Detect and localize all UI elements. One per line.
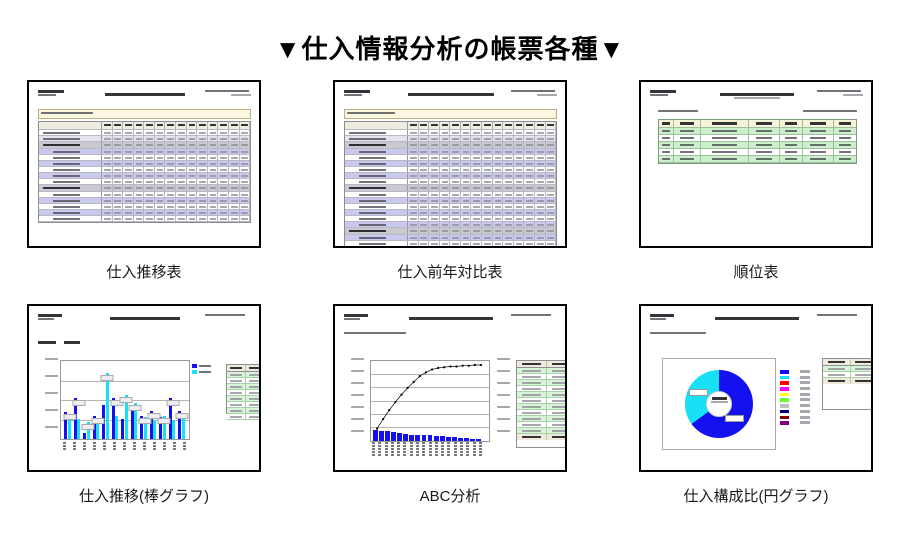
table-cell-value bbox=[208, 130, 219, 135]
table-cell-value bbox=[408, 198, 419, 203]
table-cell-value bbox=[535, 210, 546, 215]
legend-swatch bbox=[780, 410, 789, 414]
x-axis-tick-label bbox=[173, 442, 177, 451]
table-cell-value bbox=[155, 192, 166, 197]
table-cell-value bbox=[113, 192, 124, 197]
table-cell-value bbox=[535, 122, 546, 129]
table-cell-value bbox=[165, 198, 176, 203]
table-cell-label bbox=[345, 122, 408, 129]
table-cell-value bbox=[102, 161, 113, 166]
table-cell-value bbox=[450, 198, 461, 203]
abc-chart-y-axis-left bbox=[344, 358, 364, 442]
table-cell-value bbox=[123, 155, 134, 160]
report-page bbox=[340, 310, 561, 467]
table-cell-value bbox=[482, 185, 493, 191]
x-axis-tick-label bbox=[429, 442, 434, 457]
table-cell-value bbox=[113, 210, 124, 215]
table-cell-value bbox=[144, 216, 155, 221]
bar bbox=[182, 417, 185, 439]
table-cell-value bbox=[123, 161, 134, 166]
table-cell-value bbox=[419, 155, 430, 160]
x-axis-tick-label bbox=[403, 442, 408, 457]
table-cell-value bbox=[493, 161, 504, 166]
x-axis-tick-label bbox=[435, 442, 440, 457]
table-cell-value bbox=[187, 130, 198, 135]
table-cell bbox=[246, 378, 261, 383]
table-cell-label bbox=[345, 173, 408, 178]
table-cell-label bbox=[345, 155, 408, 160]
table-cell-value bbox=[493, 228, 504, 234]
table-cell-value bbox=[535, 198, 546, 203]
table-cell-value bbox=[440, 142, 451, 148]
table-cell-value bbox=[450, 122, 461, 129]
table-cell-value bbox=[546, 241, 557, 246]
table-cell-value bbox=[218, 192, 229, 197]
report-header-left bbox=[38, 314, 72, 322]
report-header-right bbox=[817, 314, 863, 318]
table-cell bbox=[749, 142, 780, 148]
table-cell-value bbox=[176, 204, 187, 209]
table-cell-value bbox=[102, 122, 113, 129]
table-cell-value bbox=[546, 210, 557, 215]
table-cell bbox=[749, 128, 780, 134]
table-cell bbox=[659, 142, 674, 148]
x-axis-tick-label bbox=[454, 442, 459, 457]
table-cell-value bbox=[155, 142, 166, 148]
table-cell bbox=[227, 408, 246, 413]
bar-group bbox=[102, 361, 110, 439]
table-cell-value bbox=[113, 198, 124, 203]
table-cell bbox=[547, 434, 567, 440]
table-cell-value bbox=[429, 130, 440, 135]
report-subheader bbox=[650, 332, 863, 339]
table-cell-value bbox=[197, 198, 208, 203]
table-cell-value bbox=[408, 142, 419, 148]
thumbnail-abc-analysis[interactable] bbox=[333, 304, 567, 472]
table-column-header bbox=[659, 120, 674, 127]
table-cell-value bbox=[408, 130, 419, 135]
table-cell-value bbox=[134, 210, 145, 215]
table-cell-value bbox=[197, 179, 208, 184]
table-cell-value bbox=[450, 161, 461, 166]
table-cell-value bbox=[461, 204, 472, 209]
table-cell-value bbox=[535, 216, 546, 221]
report-card-prior-year-comparison[interactable]: 仕入前年対比表 bbox=[331, 80, 569, 282]
table-cell-value bbox=[419, 149, 430, 154]
table-cell-value bbox=[408, 222, 419, 227]
bar-chart-y-axis bbox=[38, 358, 58, 443]
table-cell-value bbox=[229, 216, 240, 221]
table-cell-value bbox=[461, 198, 472, 203]
table-cell bbox=[823, 378, 851, 384]
bar-value-label bbox=[176, 413, 189, 419]
table-cell-value bbox=[482, 149, 493, 154]
table-cell-value bbox=[408, 161, 419, 166]
table-cell-value bbox=[187, 149, 198, 154]
bar-value-label bbox=[101, 375, 114, 381]
table-column-header bbox=[517, 361, 547, 367]
bar-chart-plot bbox=[60, 360, 190, 440]
table-cell-value bbox=[144, 149, 155, 154]
table-cell-value bbox=[482, 142, 493, 148]
table-cell bbox=[227, 384, 246, 389]
table-cell-value bbox=[503, 155, 514, 160]
table-cell bbox=[517, 416, 547, 421]
table-cell-value bbox=[524, 228, 535, 234]
table-cell-value bbox=[419, 136, 430, 141]
table-cell-value bbox=[123, 142, 134, 148]
table-cell-value bbox=[493, 192, 504, 197]
table-cell bbox=[674, 128, 701, 134]
table-cell-value bbox=[440, 210, 451, 215]
abc-chart-data-table bbox=[516, 360, 567, 448]
x-axis-tick-label bbox=[416, 442, 421, 457]
table-cell bbox=[517, 368, 547, 373]
table-cell-value bbox=[134, 155, 145, 160]
table-cell-value bbox=[419, 241, 430, 246]
table-cell bbox=[674, 149, 701, 155]
table-cell-value bbox=[493, 185, 504, 191]
table-cell-value bbox=[429, 228, 440, 234]
table-cell-value bbox=[197, 130, 208, 135]
bar-chart-data-table bbox=[226, 364, 261, 414]
table-row bbox=[227, 414, 261, 420]
table-cell-label bbox=[345, 179, 408, 184]
pie-chart-legend-swatches bbox=[780, 370, 792, 427]
table-cell-value bbox=[165, 136, 176, 141]
table-cell-value bbox=[546, 130, 557, 135]
table-cell-value bbox=[176, 161, 187, 166]
table-cell-value bbox=[514, 247, 525, 248]
table-cell-value bbox=[514, 161, 525, 166]
report-card-purchase-trend-table[interactable]: 仕入推移表 bbox=[25, 80, 263, 282]
table-cell-label bbox=[39, 155, 102, 160]
table-row bbox=[39, 142, 250, 149]
table-cell-label bbox=[345, 204, 408, 209]
table-cell-value bbox=[165, 210, 176, 215]
table-cell-value bbox=[524, 167, 535, 172]
table-cell bbox=[547, 416, 567, 421]
report-card-ranking-table[interactable]: 順位表 bbox=[637, 80, 875, 282]
table-cell-value bbox=[440, 161, 451, 166]
pie-chart-area bbox=[650, 350, 863, 461]
table-cell-value bbox=[419, 228, 430, 234]
table-cell-value bbox=[240, 179, 251, 184]
table-cell-value bbox=[482, 167, 493, 172]
thumbnail-prior-year-comparison[interactable] bbox=[333, 80, 567, 248]
table-cell-label bbox=[345, 198, 408, 203]
table-cell-value bbox=[408, 185, 419, 191]
x-axis-tick-label bbox=[372, 442, 377, 457]
table-row bbox=[345, 122, 556, 130]
x-axis-tick-label bbox=[133, 442, 137, 451]
table-cell-value bbox=[240, 149, 251, 154]
table-cell-value bbox=[493, 142, 504, 148]
table-cell-value bbox=[229, 167, 240, 172]
table-cell-value bbox=[471, 167, 482, 172]
table-cell-label bbox=[39, 161, 102, 166]
table-cell-value bbox=[165, 142, 176, 148]
bar-chart-legend bbox=[192, 364, 218, 376]
table-cell-value bbox=[155, 161, 166, 166]
table-cell bbox=[701, 149, 749, 155]
report-header-title bbox=[711, 317, 803, 320]
table-cell-value bbox=[493, 155, 504, 160]
table-cell-value bbox=[461, 235, 472, 240]
table-cell-value bbox=[503, 136, 514, 141]
report-page bbox=[646, 86, 867, 243]
table-header-row bbox=[823, 359, 873, 366]
table-cell-value bbox=[524, 247, 535, 248]
table-cell-value bbox=[440, 222, 451, 227]
table-cell-value bbox=[514, 122, 525, 129]
table-cell-value bbox=[546, 198, 557, 203]
table-cell-value bbox=[461, 161, 472, 166]
table-cell-value bbox=[408, 216, 419, 221]
report-card-pie-chart[interactable]: 仕入構成比(円グラフ) bbox=[637, 304, 875, 506]
table-cell-label bbox=[345, 130, 408, 135]
table-cell-value bbox=[102, 136, 113, 141]
table-cell bbox=[517, 392, 547, 397]
table-cell-value bbox=[440, 247, 451, 248]
table-cell-value bbox=[471, 161, 482, 166]
table-cell bbox=[547, 386, 567, 391]
table-cell-value bbox=[461, 247, 472, 248]
table-cell-value bbox=[514, 142, 525, 148]
table-cell bbox=[834, 156, 856, 162]
table-cell-label bbox=[39, 198, 102, 203]
bar-value-label bbox=[120, 397, 133, 403]
report-header bbox=[650, 90, 863, 106]
table-cell-value bbox=[208, 179, 219, 184]
table-cell-value bbox=[176, 198, 187, 203]
table-cell-value bbox=[176, 142, 187, 148]
table-cell-value bbox=[461, 167, 472, 172]
table-footer-row bbox=[823, 378, 873, 384]
table-cell-label bbox=[345, 167, 408, 172]
table-cell bbox=[851, 378, 873, 384]
table-cell-value bbox=[240, 204, 251, 209]
table-cell-value bbox=[450, 185, 461, 191]
table-cell-value bbox=[218, 142, 229, 148]
thumbnail-pie-chart[interactable] bbox=[639, 304, 873, 472]
table-cell-value bbox=[165, 122, 176, 129]
table-cell-value bbox=[408, 235, 419, 240]
table-cell-value bbox=[155, 185, 166, 191]
table-cell-value bbox=[113, 142, 124, 148]
table-row bbox=[659, 156, 856, 163]
table-cell-value bbox=[419, 204, 430, 209]
bar-value-label bbox=[63, 414, 76, 420]
table-cell-value bbox=[503, 192, 514, 197]
table-cell-label bbox=[345, 185, 408, 191]
table-cell-value bbox=[503, 173, 514, 178]
x-axis-tick-label bbox=[460, 442, 465, 457]
table-cell bbox=[674, 156, 701, 162]
thumbnail-row-2: 仕入推移(棒グラフ) bbox=[0, 304, 900, 506]
table-cell-value bbox=[229, 179, 240, 184]
table-cell-value bbox=[524, 216, 535, 221]
bar-value-label bbox=[73, 400, 86, 406]
table-cell-value bbox=[113, 155, 124, 160]
table-cell bbox=[659, 135, 674, 141]
table-cell-value bbox=[419, 222, 430, 227]
table-cell-value bbox=[113, 167, 124, 172]
table-cell-value bbox=[229, 122, 240, 129]
table-cell-value bbox=[102, 173, 113, 178]
table-cell-value bbox=[546, 161, 557, 166]
report-header-left bbox=[650, 314, 684, 322]
table-cell-value bbox=[176, 149, 187, 154]
table-cell-value bbox=[176, 130, 187, 135]
table-cell-value bbox=[514, 185, 525, 191]
table-cell bbox=[547, 392, 567, 397]
table-cell-value bbox=[482, 192, 493, 197]
table-cell-value bbox=[535, 235, 546, 240]
table-cell bbox=[659, 156, 674, 162]
table-cell-value bbox=[240, 216, 251, 221]
table-cell bbox=[227, 402, 246, 407]
table-cell-value bbox=[144, 167, 155, 172]
table-cell-value bbox=[450, 235, 461, 240]
table-cell-label bbox=[345, 228, 408, 234]
report-header-right bbox=[511, 314, 557, 318]
table-cell-value bbox=[524, 210, 535, 215]
table-row bbox=[659, 128, 856, 135]
table-cell-value bbox=[229, 185, 240, 191]
table-cell-value bbox=[408, 155, 419, 160]
table-cell-value bbox=[440, 173, 451, 178]
table-cell-value bbox=[113, 122, 124, 129]
table-cell-label bbox=[345, 222, 408, 227]
table-cell-value bbox=[134, 192, 145, 197]
report-subheader bbox=[344, 332, 557, 339]
table-cell-value bbox=[155, 173, 166, 178]
table-cell-value bbox=[208, 216, 219, 221]
table-cell-value bbox=[535, 185, 546, 191]
table-cell-value bbox=[450, 204, 461, 209]
table-cell-value bbox=[240, 130, 251, 135]
table-cell-value bbox=[176, 136, 187, 141]
x-axis-tick-label bbox=[391, 442, 396, 457]
table-cell-value bbox=[461, 210, 472, 215]
table-cell-value bbox=[408, 192, 419, 197]
table-cell-value bbox=[471, 155, 482, 160]
table-cell-value bbox=[218, 185, 229, 191]
report-header bbox=[38, 314, 251, 330]
thumbnail-bar-chart[interactable] bbox=[27, 304, 261, 472]
table-cell-value bbox=[208, 173, 219, 178]
table-cell-value bbox=[123, 204, 134, 209]
table-cell-value bbox=[176, 192, 187, 197]
table-cell-value bbox=[165, 192, 176, 197]
table-cell-value bbox=[482, 222, 493, 227]
thumbnail-purchase-trend-table[interactable] bbox=[27, 80, 261, 248]
table-cell bbox=[780, 156, 803, 162]
table-cell-value bbox=[461, 241, 472, 246]
x-axis-tick-label bbox=[83, 442, 87, 451]
report-card-bar-chart[interactable]: 仕入推移(棒グラフ) bbox=[25, 304, 263, 506]
table-cell-value bbox=[123, 192, 134, 197]
table-cell-value bbox=[440, 216, 451, 221]
table-cell-value bbox=[493, 210, 504, 215]
table-cell-value bbox=[197, 185, 208, 191]
table-cell-value bbox=[123, 173, 134, 178]
legend-swatch bbox=[780, 416, 789, 420]
report-card-abc-analysis[interactable]: ABC分析 bbox=[331, 304, 569, 506]
table-cell-value bbox=[102, 216, 113, 221]
x-axis-tick-label bbox=[447, 442, 452, 457]
table-cell-value bbox=[546, 167, 557, 172]
x-axis-tick-label bbox=[183, 442, 187, 451]
table-cell-value bbox=[208, 185, 219, 191]
table-cell-value bbox=[408, 179, 419, 184]
table-row bbox=[659, 149, 856, 156]
table-cell-value bbox=[113, 173, 124, 178]
table-cell-value bbox=[229, 136, 240, 141]
table-cell bbox=[547, 404, 567, 409]
table-column-header bbox=[834, 120, 856, 127]
bar-value-label bbox=[82, 424, 95, 430]
table-cell-value bbox=[482, 247, 493, 248]
x-axis-tick-label bbox=[410, 442, 415, 457]
table-cell-value bbox=[429, 149, 440, 154]
table-cell-value bbox=[440, 228, 451, 234]
table-cell-value bbox=[493, 130, 504, 135]
table-cell-value bbox=[450, 247, 461, 248]
report-header-right bbox=[817, 90, 863, 97]
table-cell-value bbox=[419, 247, 430, 248]
table-cell-value bbox=[503, 247, 514, 248]
table-cell bbox=[823, 366, 851, 371]
pie-chart-data-table bbox=[822, 358, 873, 410]
abc-chart-x-axis bbox=[372, 442, 484, 457]
table-cell-label bbox=[345, 241, 408, 246]
report-header bbox=[344, 314, 557, 330]
table-cell-value bbox=[134, 136, 145, 141]
table-cell-value bbox=[208, 149, 219, 154]
table-cell-value bbox=[123, 185, 134, 191]
thumbnail-row-1: 仕入推移表 bbox=[0, 80, 900, 282]
table-cell-value bbox=[546, 247, 557, 248]
table-cell-value bbox=[155, 122, 166, 129]
table-cell-value bbox=[144, 142, 155, 148]
table-cell-value bbox=[208, 155, 219, 160]
table-cell-label bbox=[345, 136, 408, 141]
table-cell-value bbox=[155, 155, 166, 160]
table-cell-value bbox=[546, 192, 557, 197]
table-cell-value bbox=[546, 179, 557, 184]
table-cell-value bbox=[123, 216, 134, 221]
table-cell-value bbox=[176, 122, 187, 129]
table-cell-value bbox=[471, 241, 482, 246]
table-cell bbox=[517, 410, 547, 415]
table-cell-value bbox=[123, 179, 134, 184]
table-cell-value bbox=[187, 136, 198, 141]
table-cell-value bbox=[482, 228, 493, 234]
table-cell-value bbox=[419, 216, 430, 221]
table-cell bbox=[246, 408, 261, 413]
table-cell-value bbox=[546, 155, 557, 160]
table-cell-value bbox=[450, 210, 461, 215]
thumbnail-ranking-table[interactable] bbox=[639, 80, 873, 248]
legend-swatch bbox=[192, 370, 197, 374]
table-cell-value bbox=[155, 149, 166, 154]
table-cell-value bbox=[144, 204, 155, 209]
table-cell-value bbox=[482, 241, 493, 246]
report-page bbox=[646, 310, 867, 467]
table-column-header bbox=[803, 120, 834, 127]
